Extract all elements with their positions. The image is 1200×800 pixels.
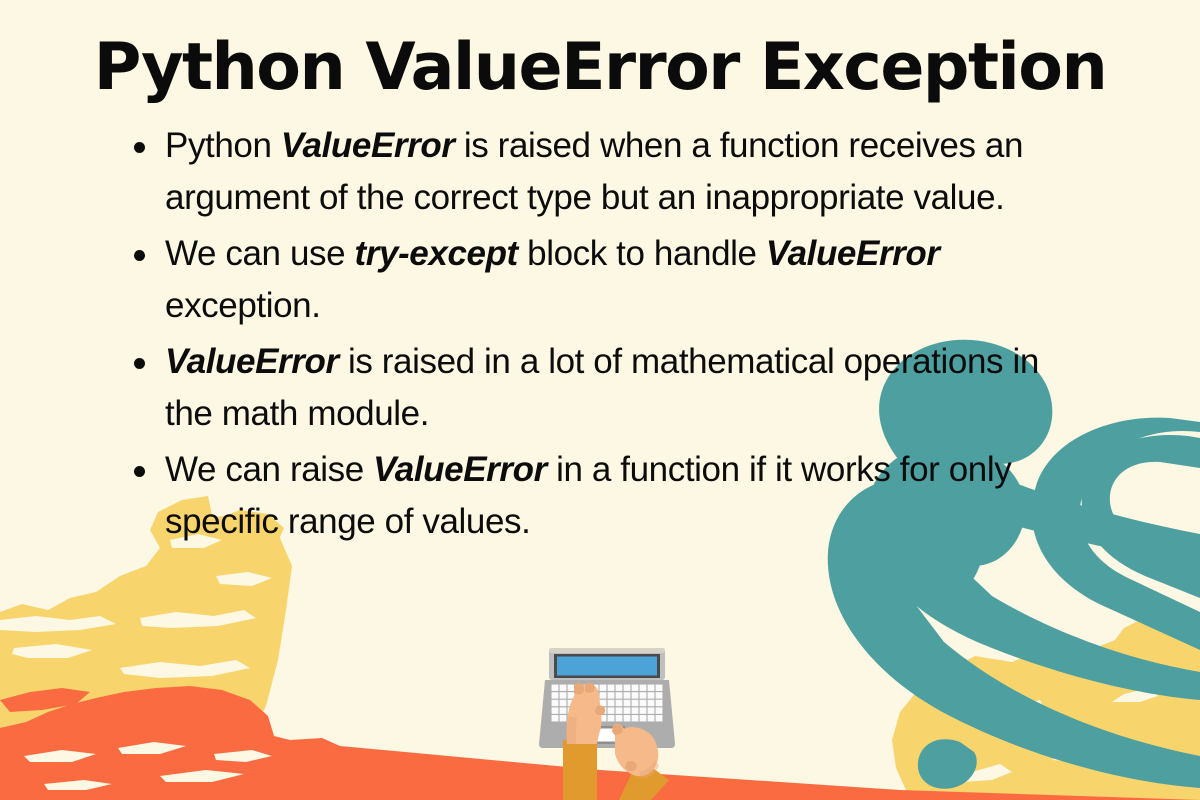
laptop-screen (557, 657, 657, 676)
text-run: Python (165, 126, 281, 165)
bullet-text: We can raise ValueError in a function if… (165, 450, 1011, 541)
list-item: ValueError is raised in a lot of mathema… (0, 336, 1200, 440)
emphasis-term: ValueError (766, 234, 940, 273)
laptop-lid-top-edge (549, 648, 665, 653)
bullet-text: We can use try-except block to handle Va… (165, 234, 940, 325)
text-run: exception. (165, 286, 321, 325)
list-item: We can raise ValueError in a function if… (0, 444, 1200, 548)
emphasis-term: ValueError (165, 342, 339, 381)
poster-content: Python ValueError Exception Python Value… (0, 0, 1200, 548)
list-item: We can use try-except block to handle Va… (0, 228, 1200, 332)
bullet-marker-icon (134, 466, 145, 477)
page-title: Python ValueError Exception (0, 0, 1200, 102)
emphasis-term: ValueError (373, 450, 547, 489)
bullet-marker-icon (134, 142, 145, 153)
text-run: We can raise (165, 450, 373, 489)
list-item: Python ValueError is raised when a funct… (0, 120, 1200, 224)
yellow-brush-stroke-right (892, 612, 1200, 800)
left-arm-sleeve (563, 740, 597, 800)
bullet-list: Python ValueError is raised when a funct… (0, 120, 1200, 548)
text-run: We can use (165, 234, 355, 273)
bullet-text: Python ValueError is raised when a funct… (165, 126, 1023, 217)
bullet-marker-icon (134, 250, 145, 261)
emphasis-term: try-except (355, 234, 518, 273)
text-run: block to handle (518, 234, 766, 273)
bullet-marker-icon (134, 358, 145, 369)
left-hand-shade (567, 716, 577, 744)
emphasis-term: ValueError (281, 126, 455, 165)
poster-canvas: Python ValueError Exception Python Value… (0, 0, 1200, 800)
laptop-typing-hands-illustration (527, 640, 687, 800)
bullet-text: ValueError is raised in a lot of mathema… (165, 342, 1039, 433)
